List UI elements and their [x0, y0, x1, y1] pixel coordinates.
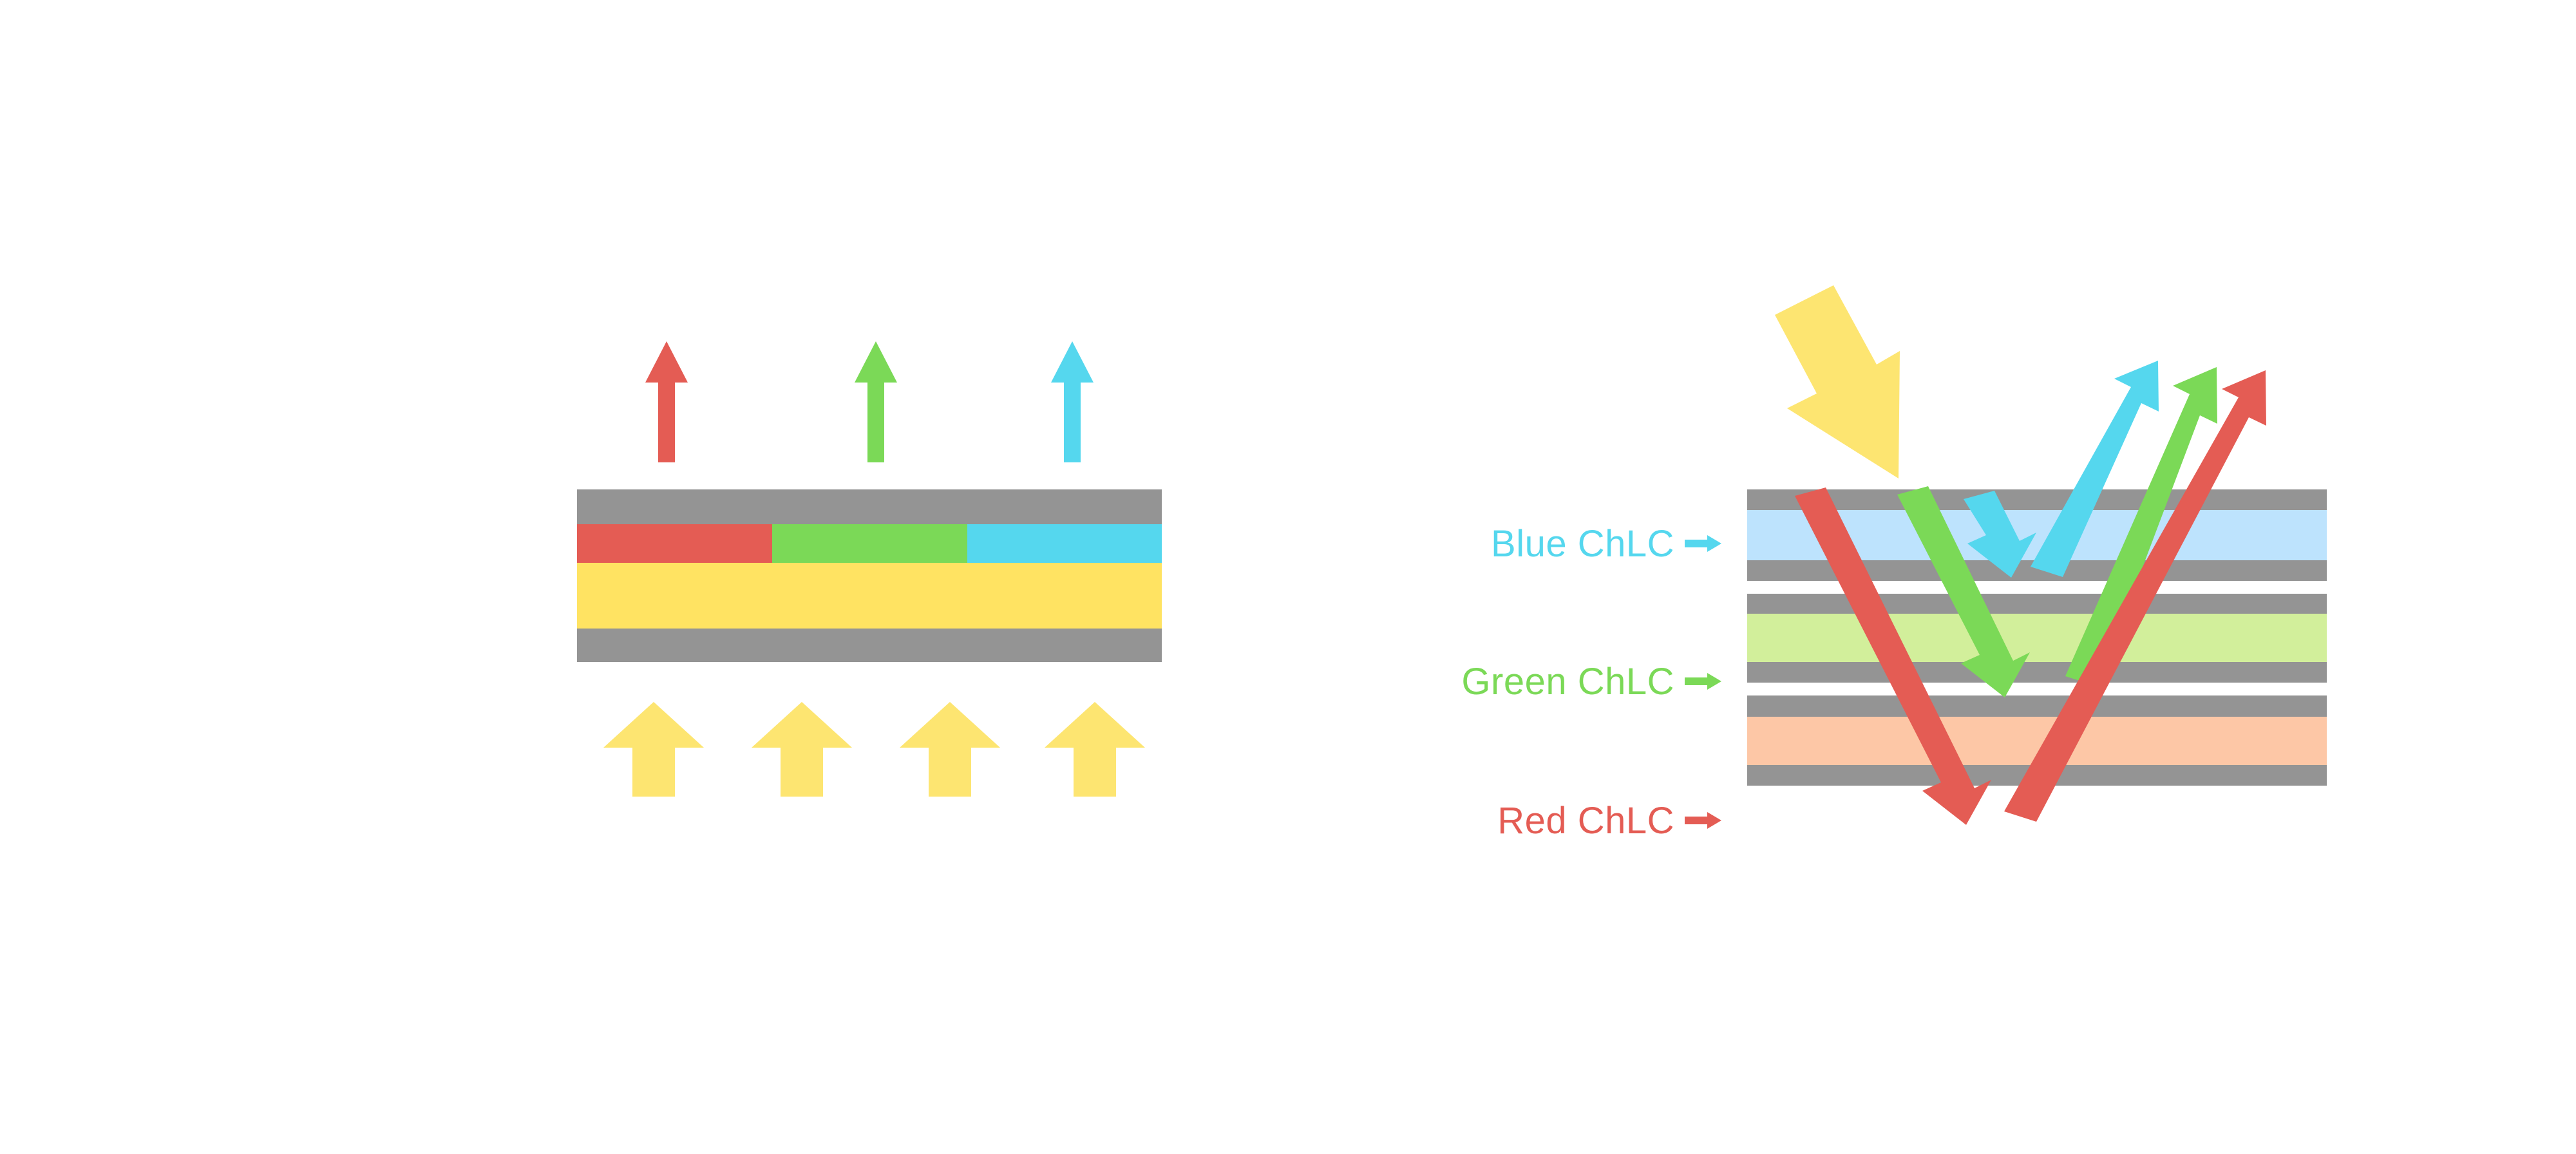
- blue-filter-segment: [967, 524, 1162, 563]
- layer-labels-group: Blue ChLC Green ChLC Red ChLC: [1461, 523, 1721, 842]
- green-filter-segment: [772, 524, 967, 563]
- chlc-display-diagram: Blue ChLC Green ChLC Red ChLC: [0, 0, 2576, 1154]
- green-emitted-arrow: [855, 341, 897, 462]
- backlight-arrow-2: [752, 702, 852, 797]
- blue-chlc-label-group: Blue ChLC: [1491, 523, 1721, 565]
- top-electrode-layer: [577, 489, 1162, 524]
- green-chlc-label-group: Green ChLC: [1461, 661, 1721, 703]
- blue-chlc-label: Blue ChLC: [1491, 523, 1674, 565]
- emitted-arrows-group: [645, 341, 1094, 462]
- red-emitted-arrow: [645, 341, 688, 462]
- backlight-arrow-1: [603, 702, 704, 797]
- red-chlc-label-group: Red ChLC: [1497, 800, 1721, 842]
- backlight-arrow-4: [1045, 702, 1145, 797]
- backlight-arrow-3: [900, 702, 1000, 797]
- green-chlc-label: Green ChLC: [1461, 661, 1674, 703]
- cyan-emitted-arrow: [1051, 341, 1094, 462]
- diagram-canvas: Blue ChLC Green ChLC Red ChLC: [0, 0, 2576, 1154]
- ambient-light-arrow-body: [1775, 285, 1900, 478]
- blue-chlc-label-arrow-icon: [1685, 535, 1721, 552]
- red-chlc-label-arrow-icon: [1685, 812, 1721, 829]
- bottom-electrode-layer: [577, 629, 1162, 662]
- backlight-layer: [577, 563, 1162, 629]
- right-panel: Blue ChLC Green ChLC Red ChLC: [1461, 285, 2327, 842]
- green-chlc-label-arrow-icon: [1685, 673, 1721, 690]
- green-cell-top-electrode: [1747, 594, 2327, 614]
- left-layer-stack: [577, 489, 1162, 662]
- red-filter-segment: [577, 524, 772, 563]
- backlight-arrows-group: [603, 702, 1145, 797]
- red-chlc-label: Red ChLC: [1497, 800, 1674, 842]
- green-cell-bottom-electrode: [1747, 662, 2327, 683]
- left-panel: [577, 341, 1162, 797]
- red-cell-top-electrode: [1747, 695, 2327, 717]
- green-chlc-layer: [1747, 614, 2327, 662]
